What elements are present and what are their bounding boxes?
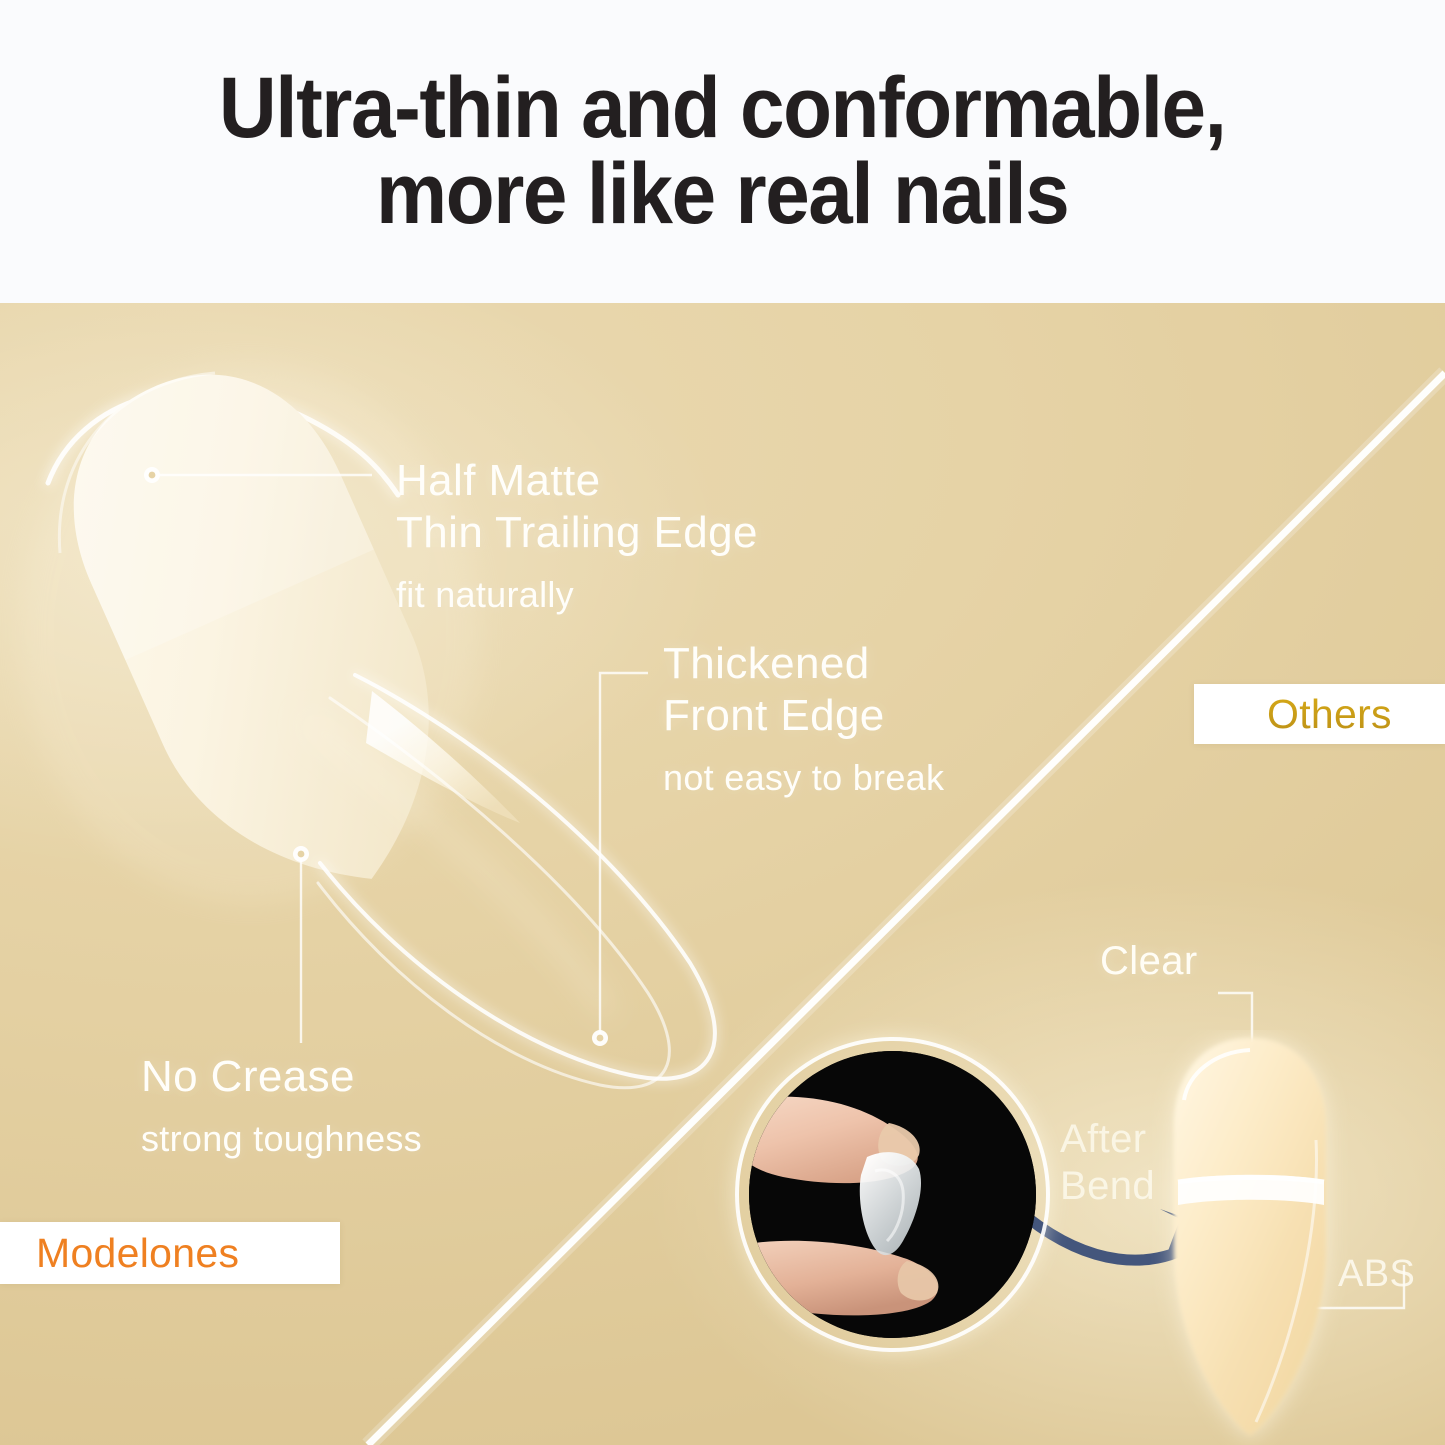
brand-badge-modelones-label: Modelones xyxy=(36,1230,239,1277)
nail-flex-sheen xyxy=(310,723,606,1009)
brand-badge-others-label: Others xyxy=(1267,691,1392,738)
bend-demo-photo-ring xyxy=(735,1037,1050,1352)
page-title: Ultra-thin and conformable, more like re… xyxy=(219,66,1226,236)
nail-glow-arc xyxy=(48,391,398,495)
annotation-no-crease-title-1: No Crease xyxy=(141,1052,355,1101)
nail-flex-outline-1 xyxy=(320,675,715,1079)
label-abs: ABS xyxy=(1338,1252,1415,1297)
dot-thickened-core xyxy=(597,1035,604,1042)
annotation-half-matte-title-2: Thin Trailing Edge xyxy=(396,508,758,557)
dot-thickened xyxy=(592,1030,608,1046)
nail-matte-area xyxy=(29,332,374,660)
dot-half-matte-core xyxy=(149,472,156,479)
comparison-panel: Half Matte Thin Trailing Edge fit natura… xyxy=(0,303,1445,1445)
brand-badge-modelones: Modelones xyxy=(0,1222,340,1284)
nail-flex-outline-2 xyxy=(318,698,669,1088)
bend-demo-photo xyxy=(735,1037,1050,1352)
headline-line-2: more like real nails xyxy=(219,152,1226,237)
nail-front-edge-wedge xyxy=(366,691,520,823)
annotation-thickened-title-1: Thickened xyxy=(663,639,870,688)
annotation-no-crease: No Crease strong toughness xyxy=(141,1051,422,1160)
dot-half-matte xyxy=(144,467,160,483)
label-after-bend-line-2: Bend xyxy=(1060,1164,1155,1208)
label-after-bend-line-1: After xyxy=(1060,1117,1146,1161)
others-abs-nail xyxy=(1148,1030,1353,1445)
dot-no-crease xyxy=(293,846,309,862)
headline-banner: Ultra-thin and conformable, more like re… xyxy=(0,0,1445,303)
product-feature-image: Ultra-thin and conformable, more like re… xyxy=(0,0,1445,1445)
annotation-no-crease-subtitle: strong toughness xyxy=(141,1117,422,1160)
leader-thickened xyxy=(600,673,648,1038)
annotation-thickened-subtitle: not easy to break xyxy=(663,756,944,799)
nail-body-group xyxy=(29,332,496,934)
dot-no-crease-core xyxy=(298,851,305,858)
nail-body xyxy=(29,332,496,934)
nail-halo xyxy=(20,363,480,903)
annotation-half-matte: Half Matte Thin Trailing Edge fit natura… xyxy=(396,455,758,616)
headline-line-1: Ultra-thin and conformable, xyxy=(219,60,1226,156)
nail-left-contour xyxy=(59,373,215,553)
annotation-half-matte-subtitle: fit naturally xyxy=(396,573,758,616)
annotation-half-matte-title-1: Half Matte xyxy=(396,456,601,505)
annotation-thickened-title-2: Front Edge xyxy=(663,691,885,740)
annotation-thickened-front-edge: Thickened Front Edge not easy to break xyxy=(663,638,944,799)
label-clear: Clear xyxy=(1100,938,1198,985)
brand-badge-others: Others xyxy=(1194,684,1445,744)
label-after-bend: After Bend xyxy=(1060,1116,1155,1210)
